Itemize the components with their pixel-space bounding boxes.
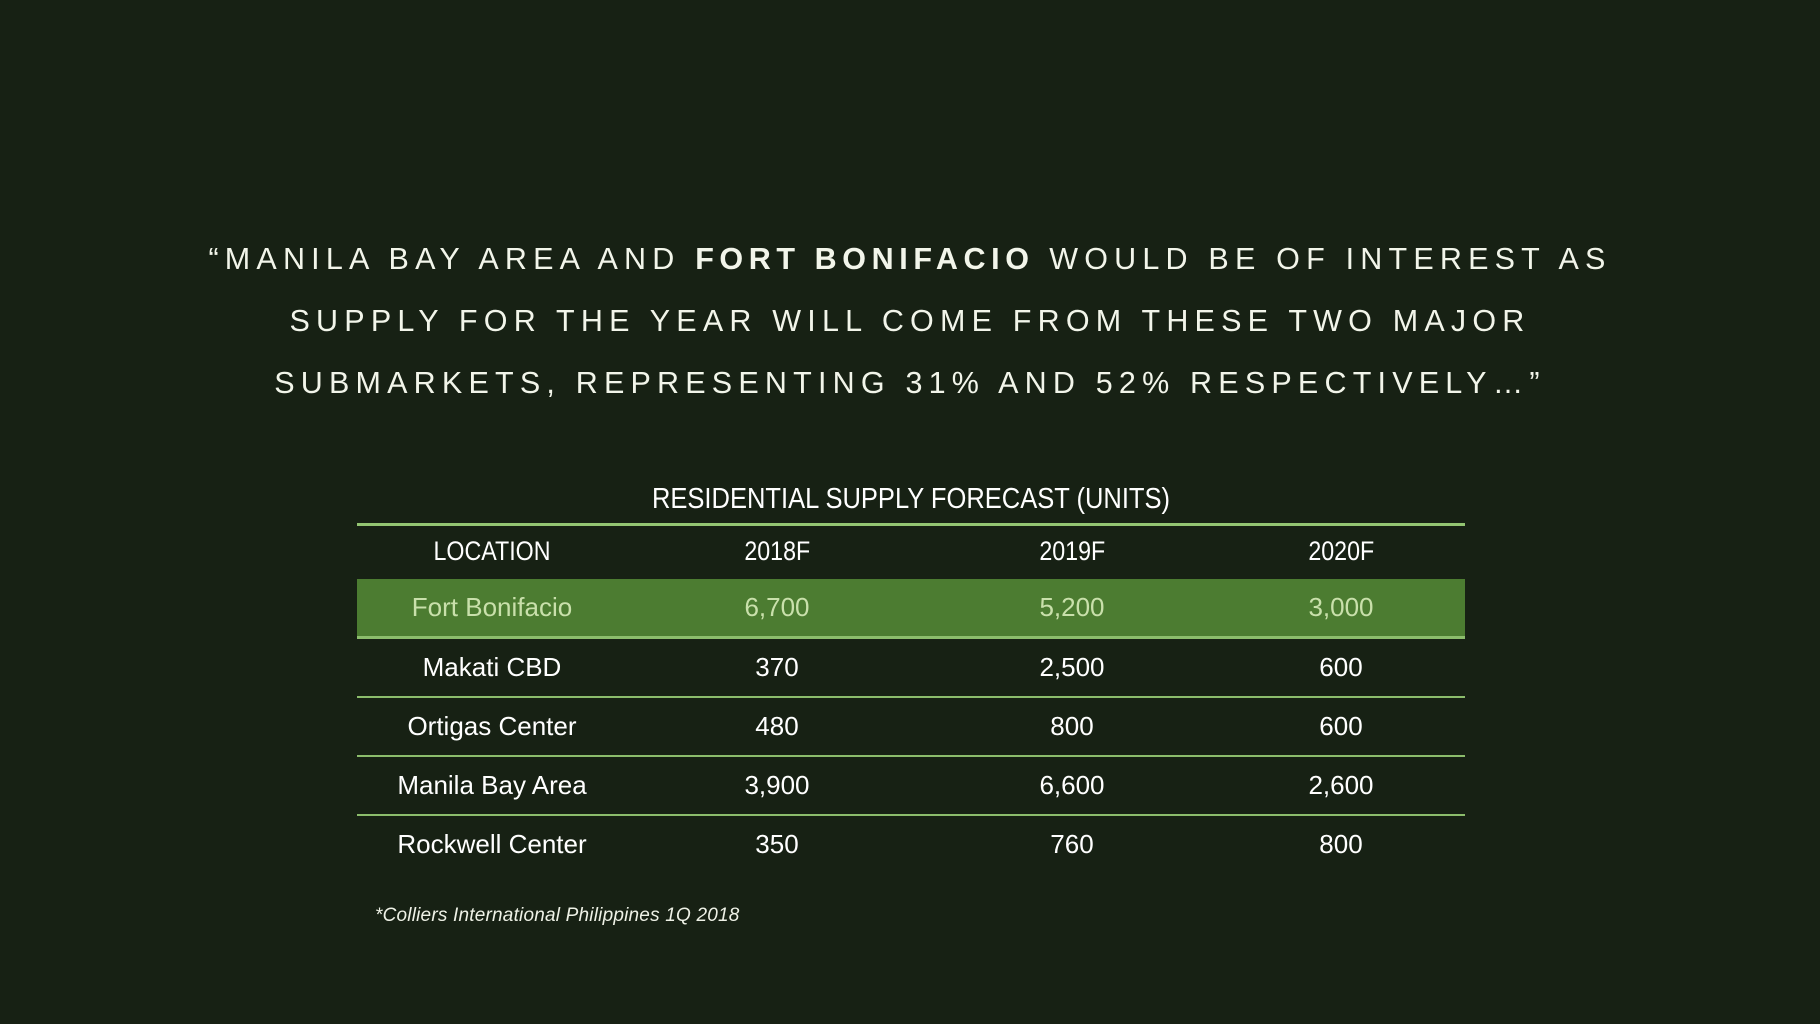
cell-location: Makati CBD (357, 638, 627, 698)
cell-location: Fort Bonifacio (357, 579, 627, 638)
quote-emphasis-fort-bonifacio: FORT BONIFACIO (695, 242, 1034, 276)
column-header-location-label: LOCATION (434, 536, 551, 567)
table-row: Ortigas Center 480 800 600 (357, 697, 1465, 756)
column-header-2018f-label: 2018F (744, 536, 810, 567)
cell-2020f: 800 (1217, 815, 1465, 873)
cell-2018f: 370 (627, 638, 927, 698)
cell-2019f: 2,500 (927, 638, 1217, 698)
quote-line-1-after: WOULD BE OF INTEREST AS (1035, 242, 1612, 276)
quote-line-2: SUPPLY FOR THE YEAR WILL COME FROM THESE… (0, 290, 1820, 352)
quote-line-1: “MANILA BAY AREA AND FORT BONIFACIO WOUL… (0, 228, 1820, 290)
cell-2020f: 600 (1217, 638, 1465, 698)
cell-2018f: 480 (627, 697, 927, 756)
column-header-2020f: 2020F (1217, 526, 1465, 579)
cell-2020f: 3,000 (1217, 579, 1465, 638)
table-row: Manila Bay Area 3,900 6,600 2,600 (357, 756, 1465, 815)
table-header: LOCATION 2018F 2019F 2020F (357, 526, 1465, 579)
cell-location: Ortigas Center (357, 697, 627, 756)
residential-supply-forecast-table: LOCATION 2018F 2019F 2020F Fort Bonifaci… (357, 526, 1465, 873)
table-header-row: LOCATION 2018F 2019F 2020F (357, 526, 1465, 579)
table-footnote: *Colliers International Philippines 1Q 2… (357, 905, 1465, 927)
cell-2019f: 6,600 (927, 756, 1217, 815)
cell-location: Rockwell Center (357, 815, 627, 873)
table-body: Fort Bonifacio 6,700 5,200 3,000 Makati … (357, 579, 1465, 873)
cell-2019f: 5,200 (927, 579, 1217, 638)
quote-line-3: SUBMARKETS, REPRESENTING 31% AND 52% RES… (0, 352, 1820, 414)
cell-location: Manila Bay Area (357, 756, 627, 815)
column-header-2019f: 2019F (927, 526, 1217, 579)
pull-quote: “MANILA BAY AREA AND FORT BONIFACIO WOUL… (0, 228, 1820, 414)
cell-2020f: 2,600 (1217, 756, 1465, 815)
cell-2018f: 350 (627, 815, 927, 873)
table-row: Makati CBD 370 2,500 600 (357, 638, 1465, 698)
cell-2019f: 760 (927, 815, 1217, 873)
column-header-2018f: 2018F (627, 526, 927, 579)
column-header-2019f-label: 2019F (1039, 536, 1105, 567)
quote-line-1-before: “MANILA BAY AREA AND (208, 242, 695, 276)
table-title: RESIDENTIAL SUPPLY FORECAST (UNITS) (423, 482, 1398, 523)
cell-2019f: 800 (927, 697, 1217, 756)
table-row: Fort Bonifacio 6,700 5,200 3,000 (357, 579, 1465, 638)
table-row: Rockwell Center 350 760 800 (357, 815, 1465, 873)
cell-2020f: 600 (1217, 697, 1465, 756)
cell-2018f: 3,900 (627, 756, 927, 815)
forecast-table-container: RESIDENTIAL SUPPLY FORECAST (UNITS) LOCA… (357, 482, 1465, 927)
cell-2018f: 6,700 (627, 579, 927, 638)
column-header-location: LOCATION (357, 526, 627, 579)
column-header-2020f-label: 2020F (1308, 536, 1374, 567)
